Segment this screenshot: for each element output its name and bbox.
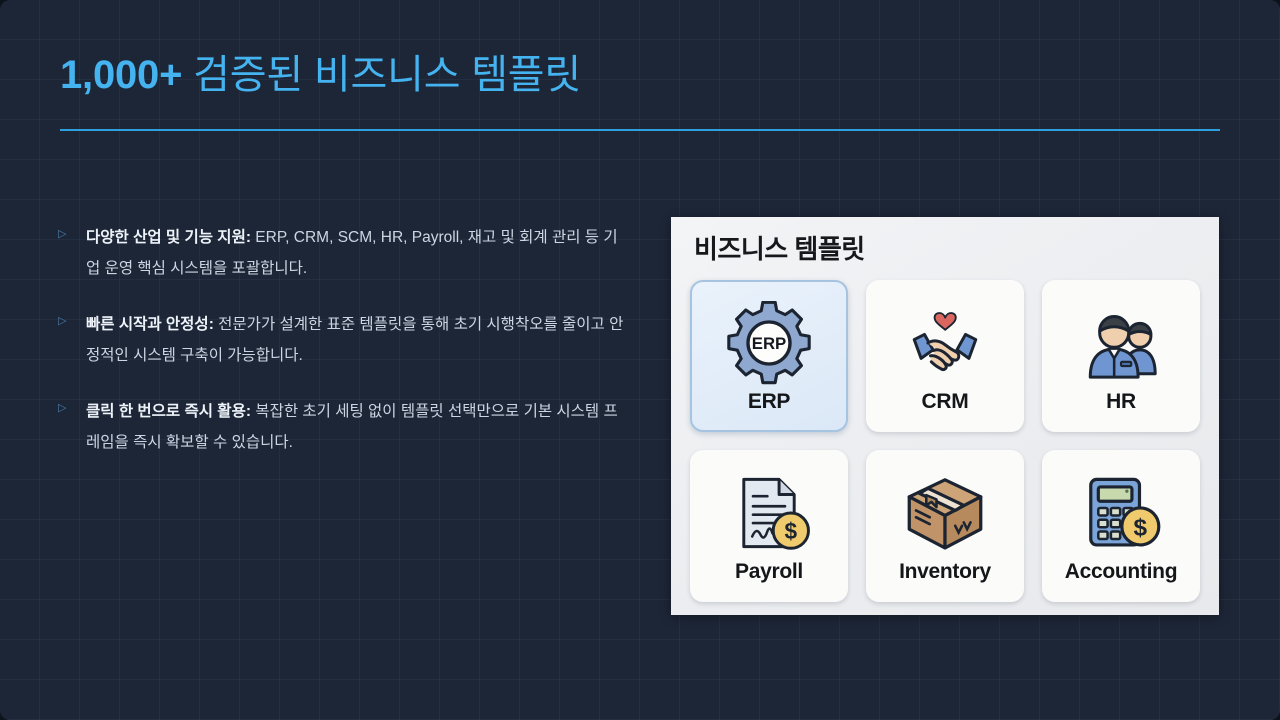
- title-highlight: 1,000+: [60, 53, 182, 97]
- title-rest: 검증된 비즈니스 템플릿: [182, 53, 581, 97]
- template-card-crm[interactable]: CRM: [866, 280, 1024, 432]
- bullet-lead: 빠른 시작과 안정성:: [86, 316, 214, 333]
- slide-canvas: 1,000+ 검증된 비즈니스 템플릿 ▷ 다양한 산업 및 기능 지원: ER…: [0, 0, 1280, 720]
- svg-text:$: $: [1134, 515, 1148, 542]
- template-card-grid: ERP ERP: [690, 280, 1200, 602]
- calculator-coin-icon: $: [1079, 470, 1163, 556]
- bullet-lead: 다양한 산업 및 기능 지원:: [86, 229, 251, 246]
- list-item: ▷ 다양한 산업 및 기능 지원: ERP, CRM, SCM, HR, Pay…: [56, 222, 626, 284]
- triangle-bullet-icon: ▷: [58, 313, 66, 331]
- template-card-payroll[interactable]: $ Payroll: [690, 450, 848, 602]
- svg-text:$: $: [785, 518, 798, 544]
- card-label: HR: [1106, 390, 1136, 414]
- bullet-list: ▷ 다양한 산업 및 기능 지원: ERP, CRM, SCM, HR, Pay…: [56, 222, 626, 483]
- template-gallery-panel: 비즈니스 템플릿 ERP ERP: [671, 217, 1219, 615]
- list-item: ▷ 클릭 한 번으로 즉시 활용: 복잡한 초기 세팅 없이 템플릿 선택만으로…: [56, 396, 626, 458]
- title-divider: [60, 129, 1220, 131]
- template-card-erp[interactable]: ERP ERP: [690, 280, 848, 432]
- handshake-heart-icon: [902, 300, 988, 386]
- card-label: Payroll: [735, 560, 803, 584]
- card-label: ERP: [748, 390, 790, 414]
- bullet-lead: 클릭 한 번으로 즉시 활용:: [86, 403, 251, 420]
- card-label: CRM: [922, 390, 969, 414]
- card-label: Accounting: [1065, 560, 1178, 584]
- panel-title: 비즈니스 템플릿: [694, 229, 865, 266]
- template-card-inventory[interactable]: Inventory: [866, 450, 1024, 602]
- triangle-bullet-icon: ▷: [58, 400, 66, 418]
- svg-text:ERP: ERP: [752, 334, 787, 353]
- page-title: 1,000+ 검증된 비즈니스 템플릿: [60, 52, 1220, 98]
- template-card-hr[interactable]: HR: [1042, 280, 1200, 432]
- box-icon: [902, 470, 988, 556]
- list-item: ▷ 빠른 시작과 안정성: 전문가가 설계한 표준 템플릿을 통해 초기 시행착…: [56, 309, 626, 371]
- gear-erp-icon: ERP: [727, 300, 811, 386]
- template-card-accounting[interactable]: $ Accounting: [1042, 450, 1200, 602]
- triangle-bullet-icon: ▷: [58, 226, 66, 244]
- people-icon: [1078, 300, 1164, 386]
- document-coin-icon: $: [727, 470, 811, 556]
- title-block: 1,000+ 검증된 비즈니스 템플릿: [60, 52, 1220, 98]
- card-label: Inventory: [899, 560, 991, 584]
